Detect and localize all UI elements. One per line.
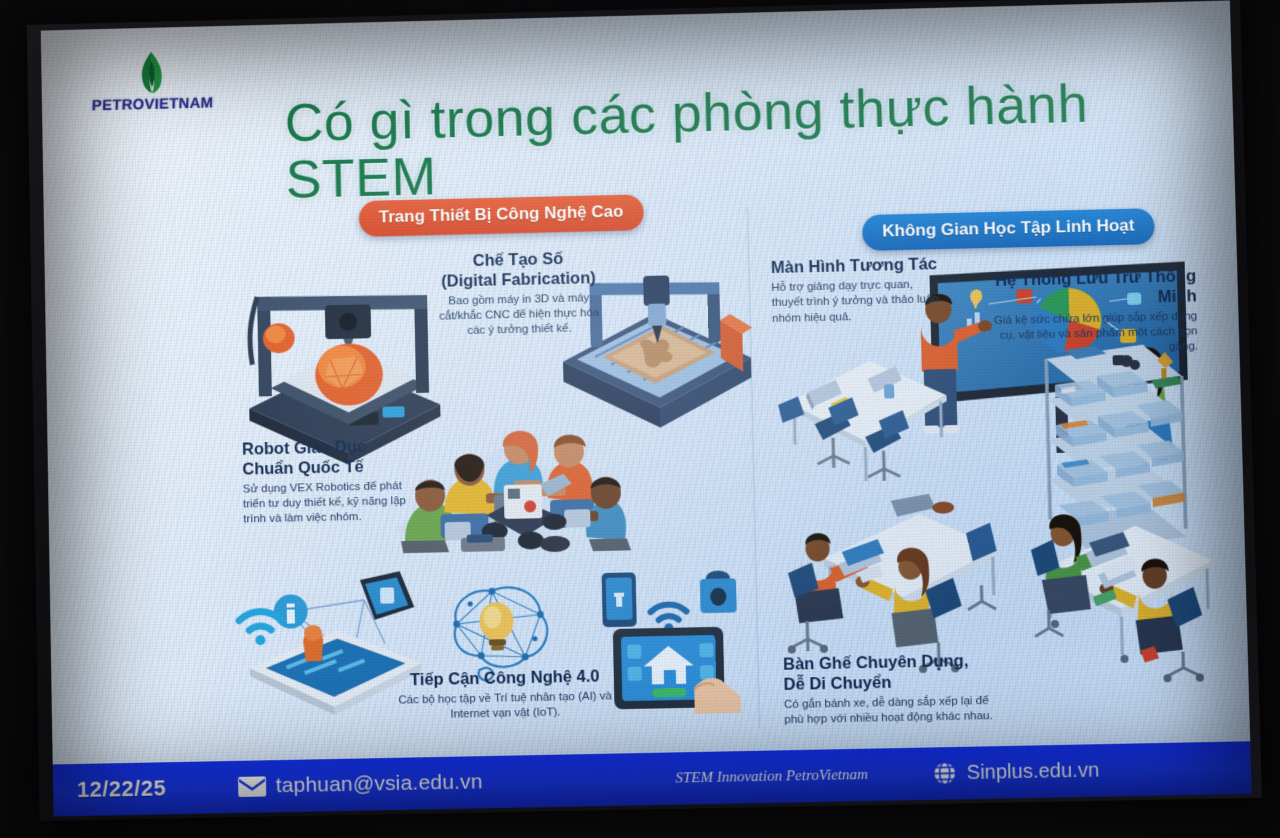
feature-heading: Hệ Thống Lưu Trữ Thông Minh [990,267,1197,311]
footer-email-group: taphuan@vsia.edu.vn [238,770,483,799]
feature-body: Sử dụng VEX Robotics để phát triển tư du… [243,478,423,528]
feature-furniture: Bàn Ghế Chuyên Dụng, Dễ Di Chuyển Có gắn… [783,651,1006,728]
feature-body: Hỗ trợ giảng dạy trực quan, thuyết trình… [771,277,942,327]
cctv-camera-icon [700,570,737,613]
workstation-pair-2-illustration [1028,498,1224,673]
projection-room: PETROVIETNAM Có gì trong các phòng thực … [0,0,1280,838]
slide-footer: 12/22/25 taphuan@vsia.edu.vn STEM Innova… [53,741,1252,816]
feature-heading: Robot Giáo Dục Chuẩn Quốc Tế [242,437,422,480]
feature-body: Có gắn bánh xe, dễ dàng sắp xếp lại để p… [784,693,1006,728]
mail-icon [238,776,266,797]
screen-bezel: PETROVIETNAM Có gì trong các phòng thực … [27,0,1262,821]
petrovietnam-flame-logo [123,49,181,96]
feature-interactive-screen: Màn Hình Tương Tác Hỗ trợ giảng dạy trực… [771,255,943,327]
globe-icon [932,761,957,786]
slide-title: Có gì trong các phòng thực hành STEM [284,73,1185,208]
wifi-icon [239,611,281,645]
projector-screen: PETROVIETNAM Có gì trong các phòng thực … [27,0,1262,821]
pointing-hand [694,677,741,713]
badge-high-tech-equipment: Trang Thiết Bị Công Nghệ Cao [359,194,644,237]
feature-body: Bao gồm máy in 3D và máy cắt/khắc CNC để… [434,291,604,341]
feature-heading: Chế Tạo Số (Digital Fabrication) [433,249,603,292]
footer-website[interactable]: Sinplus.edu.vn [966,759,1099,785]
phone-icon [602,572,637,627]
feature-body: Giá kệ sức chứa lớn giúp sắp xếp dụng cụ… [991,309,1199,360]
classroom-desks-illustration [771,337,956,511]
workstation-pair-illustration [782,492,1018,673]
feature-industry-40: Tiếp Cận Công Nghệ 4.0 Các bộ học tập về… [398,667,613,724]
smartphone-icon [360,571,415,620]
badge-flexible-space: Không Gian Học Tập Linh Hoạt [862,208,1155,251]
footer-website-group: Sinplus.edu.vn [932,758,1099,785]
footer-center-text: STEM Innovation PetroVietnam [675,766,868,787]
footer-email[interactable]: taphuan@vsia.edu.vn [275,770,482,798]
feature-heading: Bàn Ghế Chuyên Dụng, Dễ Di Chuyển [783,651,1005,695]
feature-robotics: Robot Giáo Dục Chuẩn Quốc Tế Sử dụng VEX… [242,437,423,529]
petrovietnam-logo: PETROVIETNAM [83,48,223,115]
footer-date: 12/22/25 [77,775,167,803]
tablet-device [249,629,422,717]
logo-wordmark: PETROVIETNAM [83,94,222,114]
feature-heading: Tiếp Cận Công Nghệ 4.0 [398,667,612,691]
feature-digital-fabrication: Chế Tạo Số (Digital Fabrication) Bao gồm… [433,249,604,340]
feature-smart-storage: Hệ Thống Lưu Trữ Thông Minh Giá kệ sức c… [990,267,1199,360]
presentation-slide: PETROVIETNAM Có gì trong các phòng thực … [41,0,1252,816]
feature-body: Các bộ học tập về Trí tuệ nhân tạo (AI) … [398,689,613,724]
feature-heading: Màn Hình Tương Tác [771,255,942,279]
